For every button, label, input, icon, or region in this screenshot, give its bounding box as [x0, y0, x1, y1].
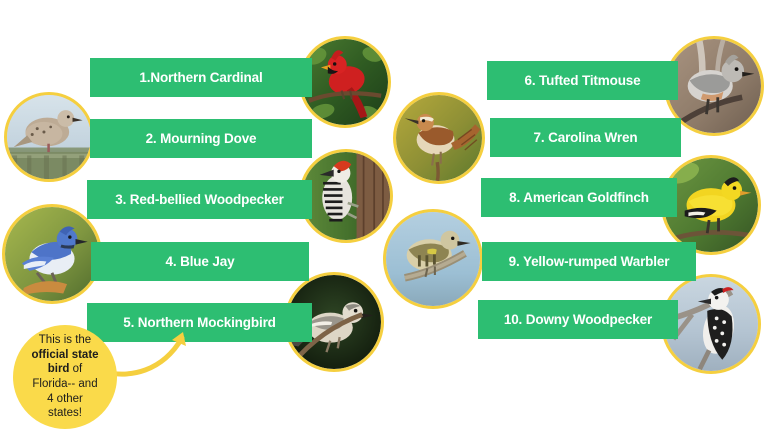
- bird-label-2: 2. Mourning Dove: [90, 132, 312, 146]
- callout-after-bold: of: [69, 363, 82, 375]
- bird-label-6: 6. Tufted Titmouse: [487, 74, 678, 88]
- bird-bar-10[interactable]: 10. Downy Woodpecker: [478, 300, 678, 339]
- bird-bar-5[interactable]: 5. Northern Mockingbird: [87, 303, 312, 342]
- callout-line-1: This is the: [39, 334, 91, 346]
- callout-line-4: 4 other: [47, 393, 83, 405]
- bird-bar-3[interactable]: 3. Red-bellied Woodpecker: [87, 180, 312, 219]
- blue-jay-photo: [2, 204, 102, 304]
- bird-label-3: 3. Red-bellied Woodpecker: [87, 193, 312, 207]
- callout-bold-2: bird: [48, 363, 70, 375]
- tufted-titmouse-image: [667, 39, 761, 133]
- bird-label-10: 10. Downy Woodpecker: [478, 313, 678, 327]
- bird-label-4: 4. Blue Jay: [91, 255, 309, 269]
- bird-bar-9[interactable]: 9. Yellow-rumped Warbler: [482, 242, 696, 281]
- state-bird-callout-text: This is the official state bird of Flori…: [23, 333, 106, 421]
- callout-bold-1: official state: [31, 349, 98, 361]
- red-bellied-woodpecker-photo: [299, 149, 393, 243]
- bird-label-1: 1.Northern Cardinal: [90, 71, 312, 85]
- infographic-canvas: 1.Northern Cardinal 2. Mourning Dove 3. …: [0, 0, 768, 438]
- downy-woodpecker-image: [664, 277, 758, 371]
- bird-label-7: 7. Carolina Wren: [490, 131, 681, 145]
- bird-bar-8[interactable]: 8. American Goldfinch: [481, 178, 677, 217]
- yellow-rumped-warbler-image: [386, 212, 480, 306]
- bird-bar-1[interactable]: 1.Northern Cardinal: [90, 58, 312, 97]
- bird-bar-4[interactable]: 4. Blue Jay: [91, 242, 309, 281]
- mourning-dove-photo: [4, 92, 94, 182]
- bird-bar-6[interactable]: 6. Tufted Titmouse: [487, 61, 678, 100]
- bird-label-8: 8. American Goldfinch: [481, 191, 677, 205]
- state-bird-callout: This is the official state bird of Flori…: [13, 325, 117, 429]
- callout-line-3: Florida-- and: [32, 378, 97, 390]
- bird-bar-2[interactable]: 2. Mourning Dove: [90, 119, 312, 158]
- american-goldfinch-image: [664, 158, 758, 252]
- bird-label-9: 9. Yellow-rumped Warbler: [482, 255, 696, 269]
- carolina-wren-photo: [393, 92, 485, 184]
- blue-jay-image: [5, 207, 99, 301]
- carolina-wren-image: [396, 95, 482, 181]
- red-bellied-woodpecker-image: [302, 152, 390, 240]
- bird-label-5: 5. Northern Mockingbird: [87, 316, 312, 330]
- bird-bar-7[interactable]: 7. Carolina Wren: [490, 118, 681, 157]
- northern-cardinal-photo: [299, 36, 391, 128]
- northern-cardinal-image: [302, 39, 388, 125]
- yellow-rumped-warbler-photo: [383, 209, 483, 309]
- mourning-dove-image: [7, 95, 91, 179]
- callout-line-5: states!: [48, 407, 82, 419]
